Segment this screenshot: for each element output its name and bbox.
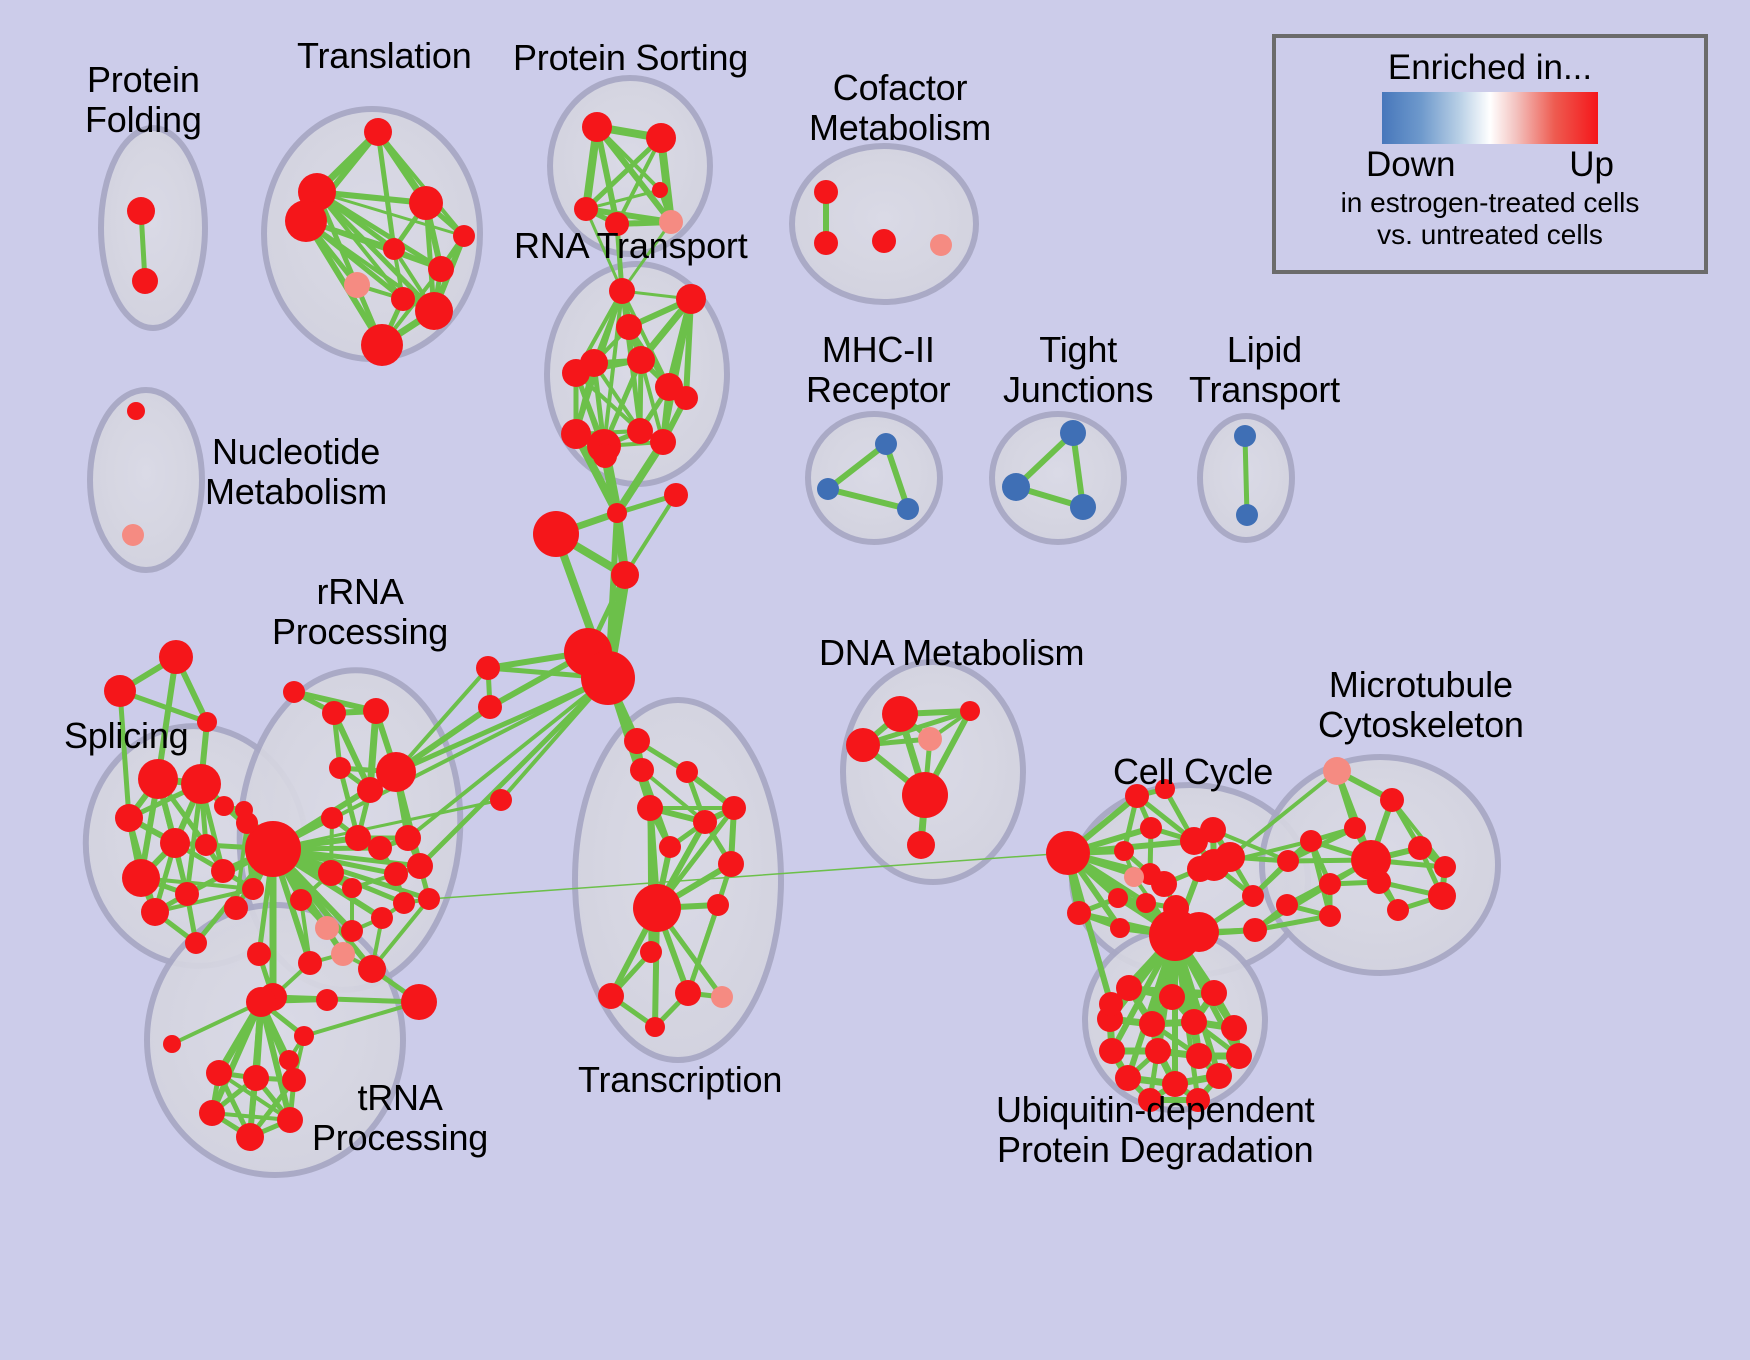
network-node	[214, 796, 234, 816]
network-node	[1221, 1015, 1247, 1041]
network-node	[358, 955, 386, 983]
network-node	[115, 804, 143, 832]
network-node	[814, 180, 838, 204]
network-node	[561, 419, 591, 449]
network-node	[476, 656, 500, 680]
network-node	[329, 757, 351, 779]
network-node	[242, 878, 264, 900]
network-node	[1428, 882, 1456, 910]
network-node	[1179, 912, 1219, 952]
network-node	[1387, 899, 1409, 921]
network-node	[533, 511, 579, 557]
network-node	[418, 888, 440, 910]
network-node	[1115, 1065, 1141, 1091]
cluster-label-microtubule-cytoskeleton: Microtubule Cytoskeleton	[1318, 665, 1524, 746]
network-node	[645, 1017, 665, 1037]
cluster-label-splicing: Splicing	[64, 716, 188, 756]
legend-title: Enriched in...	[1388, 48, 1592, 88]
network-node	[918, 727, 942, 751]
network-node	[611, 561, 639, 589]
network-node	[676, 761, 698, 783]
network-node	[897, 498, 919, 520]
network-node	[279, 1050, 299, 1070]
network-node	[1408, 836, 1432, 860]
network-node	[693, 810, 717, 834]
cluster-label-cofactor-metabolism: Cofactor Metabolism	[809, 68, 991, 149]
network-node	[609, 278, 635, 304]
network-node	[574, 197, 598, 221]
network-node	[1114, 841, 1134, 861]
network-node	[593, 444, 617, 468]
network-node	[1110, 918, 1130, 938]
network-node	[1139, 1011, 1165, 1037]
network-node	[960, 701, 980, 721]
network-node	[1099, 992, 1123, 1016]
cluster-label-ubiquitin-protein-degradation: Ubiquitin-dependent Protein Degradation	[996, 1090, 1314, 1171]
network-edge	[1245, 436, 1247, 515]
network-node	[361, 324, 403, 366]
network-node	[1276, 894, 1298, 916]
network-node	[206, 1060, 232, 1086]
network-node	[127, 197, 155, 225]
network-node	[122, 524, 144, 546]
network-node	[345, 825, 371, 851]
network-node	[342, 878, 362, 898]
network-node	[1236, 504, 1258, 526]
network-node	[616, 314, 642, 340]
network-node	[285, 200, 327, 242]
network-node	[1099, 1038, 1125, 1064]
network-node	[283, 681, 305, 703]
network-node	[1108, 888, 1128, 908]
network-node	[814, 231, 838, 255]
network-node	[1242, 885, 1264, 907]
network-node	[211, 859, 235, 883]
network-node	[1067, 901, 1091, 925]
network-node	[882, 696, 918, 732]
network-node	[127, 402, 145, 420]
network-node	[122, 859, 160, 897]
legend-color-gradient	[1382, 92, 1598, 144]
network-node	[675, 980, 701, 1006]
cluster-label-translation: Translation	[297, 36, 472, 76]
network-node	[185, 932, 207, 954]
network-node	[104, 675, 136, 707]
network-node	[1319, 873, 1341, 895]
network-node	[902, 772, 948, 818]
network-node	[627, 346, 655, 374]
network-node	[331, 942, 355, 966]
network-node	[1186, 1043, 1212, 1069]
cluster-ellipse-cofactor	[792, 146, 976, 302]
network-node	[344, 272, 370, 298]
network-node	[1159, 984, 1185, 1010]
cluster-label-protein-sorting: Protein Sorting	[513, 38, 748, 78]
network-node	[243, 1065, 269, 1091]
network-node	[298, 951, 322, 975]
cluster-label-trna-processing: tRNA Processing	[312, 1078, 488, 1159]
network-node	[650, 429, 676, 455]
network-node	[1380, 788, 1404, 812]
network-node	[453, 225, 475, 247]
network-node	[246, 987, 276, 1017]
network-node	[322, 701, 346, 725]
cluster-ellipse-nucleotide	[90, 390, 202, 570]
cluster-label-tight-junctions: Tight Junctions	[1003, 330, 1153, 411]
network-node	[363, 698, 389, 724]
legend-up-label: Up	[1569, 145, 1614, 185]
network-node	[159, 640, 193, 674]
network-node	[676, 284, 706, 314]
network-node	[1234, 425, 1256, 447]
network-node	[664, 483, 688, 507]
network-node	[197, 712, 217, 732]
legend-caption-line1: in estrogen-treated cells	[1341, 187, 1640, 219]
network-node	[1070, 494, 1096, 520]
network-node	[1181, 1009, 1207, 1035]
network-node	[711, 986, 733, 1008]
network-node	[409, 186, 443, 220]
network-node	[718, 851, 744, 877]
network-node	[175, 882, 199, 906]
network-node	[674, 386, 698, 410]
network-node	[235, 801, 253, 819]
network-node	[722, 796, 746, 820]
network-node	[659, 836, 681, 858]
network-node	[277, 1107, 303, 1133]
cluster-label-transcription: Transcription	[578, 1060, 782, 1100]
cluster-label-rna-transport: RNA Transport	[514, 226, 748, 266]
network-node	[1151, 871, 1177, 897]
network-node	[1226, 1043, 1252, 1069]
network-node	[1200, 817, 1226, 843]
network-node	[562, 359, 590, 387]
network-node	[181, 764, 221, 804]
network-node	[315, 916, 339, 940]
network-node	[321, 807, 343, 829]
network-node	[1300, 830, 1322, 852]
network-node	[875, 433, 897, 455]
cluster-label-dna-metabolism: DNA Metabolism	[819, 633, 1084, 673]
network-node	[401, 984, 437, 1020]
network-node	[1140, 817, 1162, 839]
network-node	[707, 894, 729, 916]
network-node	[393, 892, 415, 914]
network-node	[395, 825, 421, 851]
network-node	[141, 898, 169, 926]
network-node	[633, 884, 681, 932]
cluster-label-nucleotide-metabolism: Nucleotide Metabolism	[205, 432, 387, 513]
network-node	[581, 651, 635, 705]
network-node	[607, 503, 627, 523]
network-node	[640, 941, 662, 963]
cluster-ellipse-mhc	[808, 414, 940, 542]
network-node	[138, 759, 178, 799]
network-node	[383, 238, 405, 260]
legend-down-label: Down	[1366, 145, 1455, 185]
network-node	[1243, 918, 1267, 942]
network-node	[294, 1026, 314, 1046]
network-node	[1124, 867, 1144, 887]
network-node	[1060, 420, 1086, 446]
network-node	[236, 1123, 264, 1151]
network-node	[872, 229, 896, 253]
network-node	[630, 758, 654, 782]
network-node	[1145, 1038, 1171, 1064]
network-node	[368, 836, 392, 860]
network-node	[282, 1068, 306, 1092]
cluster-label-cell-cycle: Cell Cycle	[1113, 752, 1273, 792]
network-node	[637, 795, 663, 821]
network-node	[582, 112, 612, 142]
cluster-ellipse-protein-folding	[101, 128, 205, 328]
network-node	[407, 853, 433, 879]
network-node	[907, 831, 935, 859]
cluster-label-rrna-processing: rRNA Processing	[272, 572, 448, 653]
network-node	[376, 752, 416, 792]
network-node	[247, 942, 271, 966]
network-node	[1277, 850, 1299, 872]
network-node	[163, 1035, 181, 1053]
network-node	[371, 907, 393, 929]
network-node	[1187, 856, 1213, 882]
network-node	[846, 728, 880, 762]
network-node	[364, 118, 392, 146]
network-node	[652, 182, 668, 198]
network-node	[1434, 856, 1456, 878]
network-node	[428, 256, 454, 282]
network-node	[1002, 473, 1030, 501]
network-node	[627, 418, 653, 444]
network-node	[384, 862, 408, 886]
network-node	[132, 268, 158, 294]
network-node	[478, 695, 502, 719]
network-node	[598, 983, 624, 1009]
network-node	[199, 1100, 225, 1126]
network-node	[646, 123, 676, 153]
network-node	[195, 834, 217, 856]
enrichment-map-figure: Protein FoldingTranslationProtein Sortin…	[0, 0, 1750, 1360]
network-node	[224, 896, 248, 920]
network-node	[160, 828, 190, 858]
network-node	[1046, 831, 1090, 875]
network-node	[1319, 905, 1341, 927]
network-node	[1323, 757, 1351, 785]
cluster-label-mhc-ii-receptor: MHC-II Receptor	[806, 330, 950, 411]
network-node	[318, 860, 344, 886]
network-node	[1367, 870, 1391, 894]
network-node	[1201, 980, 1227, 1006]
network-node	[817, 478, 839, 500]
network-node	[391, 287, 415, 311]
network-node	[316, 989, 338, 1011]
network-node	[290, 889, 312, 911]
legend-box: Enriched in... Down Up in estrogen-treat…	[1272, 34, 1708, 274]
network-node	[341, 920, 363, 942]
network-node	[930, 234, 952, 256]
network-node	[624, 728, 650, 754]
cluster-label-protein-folding: Protein Folding	[85, 60, 202, 141]
network-node	[1344, 817, 1366, 839]
network-node	[1206, 1063, 1232, 1089]
network-node	[490, 789, 512, 811]
network-node	[1136, 893, 1156, 913]
legend-caption-line2: vs. untreated cells	[1341, 219, 1640, 251]
network-node	[415, 292, 453, 330]
network-node	[1215, 842, 1245, 872]
cluster-label-lipid-transport: Lipid Transport	[1189, 330, 1340, 411]
